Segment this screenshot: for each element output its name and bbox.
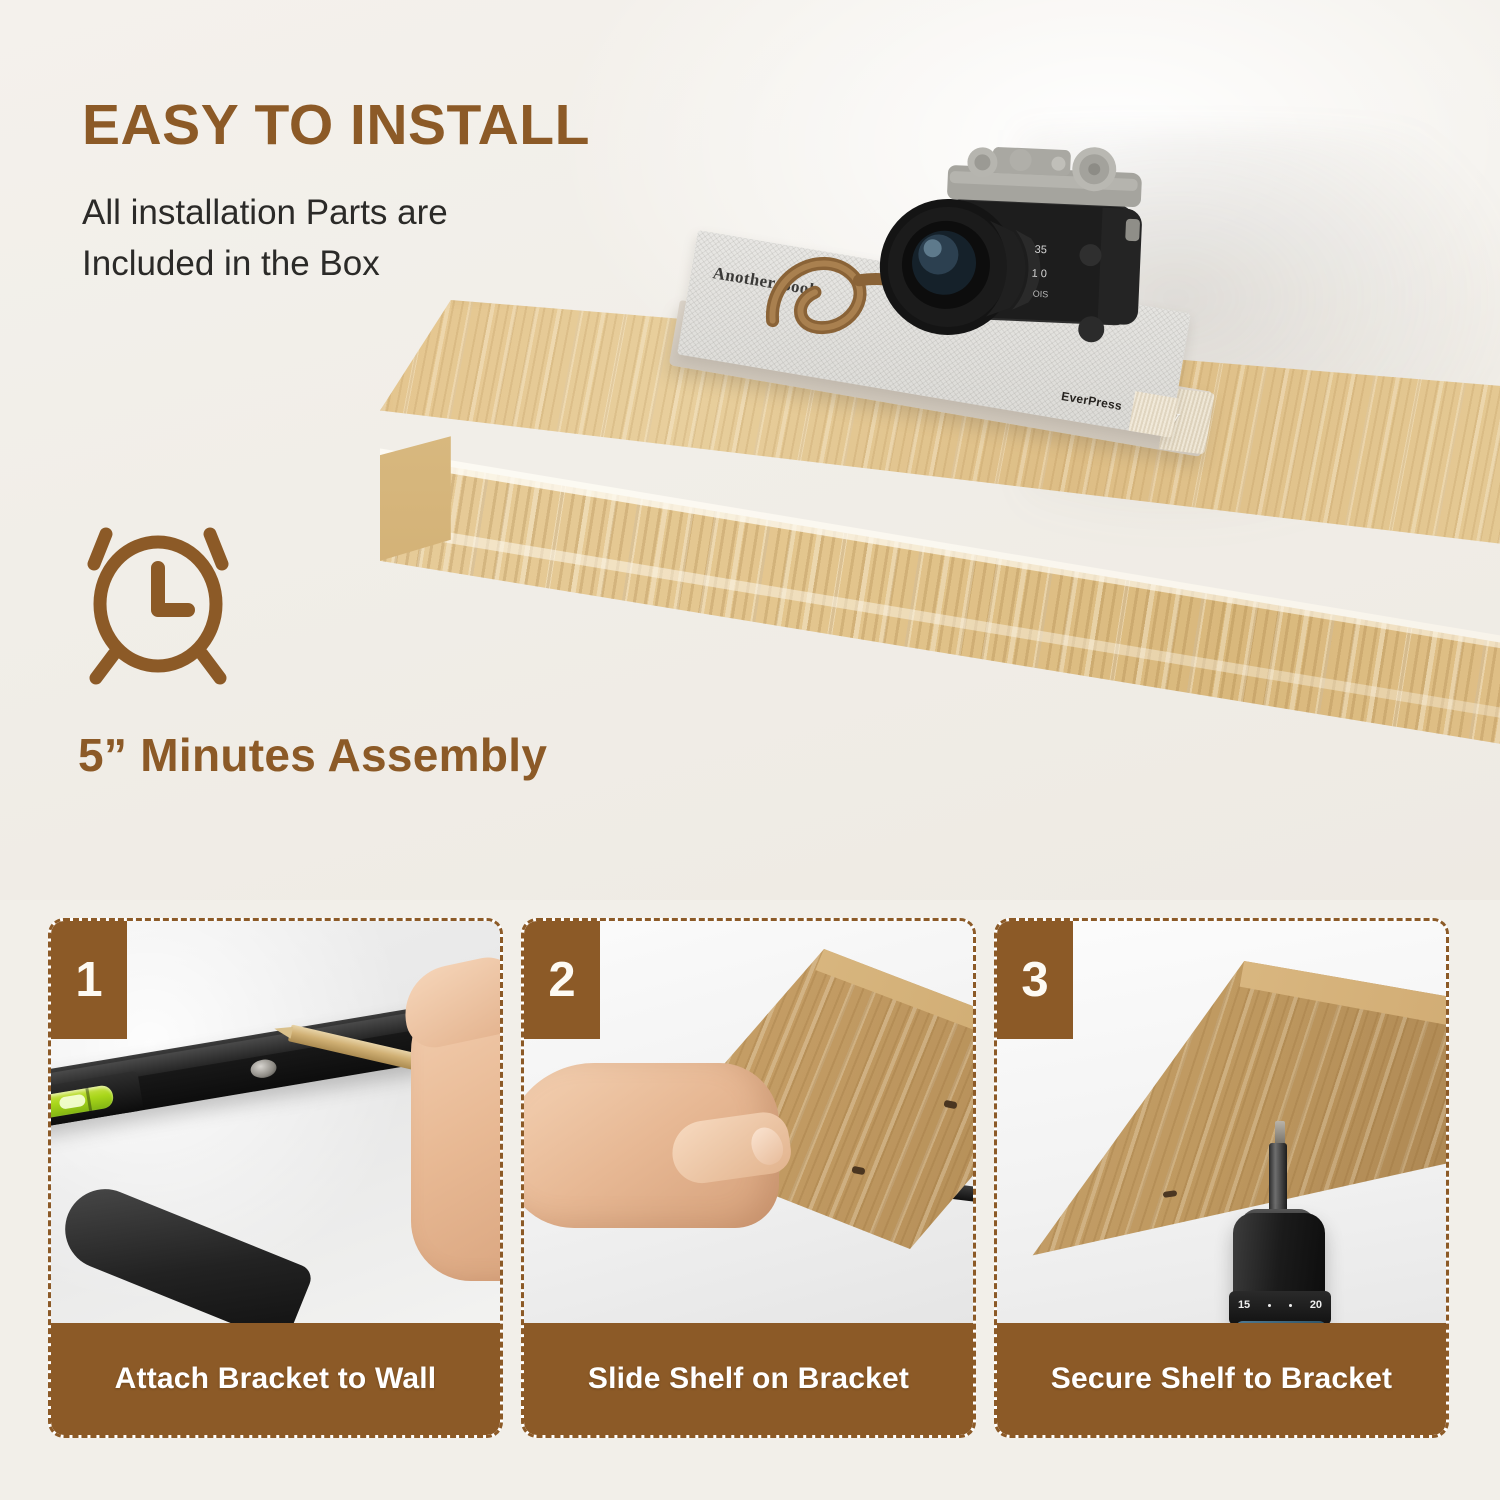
hero-section: WORLD BALLET Yan Ballet Academy Another …	[0, 0, 1500, 900]
svg-text:1 0: 1 0	[1031, 268, 1047, 281]
step-panel-2[interactable]: 2 Slide Shelf on Bracket	[521, 918, 976, 1438]
torque-mark-15: 15	[1238, 1299, 1250, 1311]
step-number-badge-3: 3	[997, 921, 1073, 1039]
step-caption-bar-3: Secure Shelf to Bracket	[997, 1323, 1446, 1435]
step-panel-3[interactable]: 15 20 3 Secure Shelf to Bracket	[994, 918, 1449, 1438]
svg-text:OIS: OIS	[1033, 289, 1049, 300]
level-bubble	[59, 1094, 87, 1110]
step-caption-2: Slide Shelf on Bracket	[588, 1362, 909, 1396]
page-title: EASY TO INSTALL	[82, 96, 742, 156]
drill-torque-marks: 15 20	[1229, 1299, 1331, 1311]
mirrorless-camera: 35 1 0 OIS	[832, 122, 1203, 407]
vial-mark-right	[85, 1088, 92, 1111]
step-number-badge-2: 2	[524, 921, 600, 1039]
step-caption-bar-2: Slide Shelf on Bracket	[524, 1323, 973, 1435]
torque-dot-1	[1268, 1304, 1271, 1307]
step-caption-3: Secure Shelf to Bracket	[1051, 1362, 1392, 1396]
drill-bit	[1269, 1143, 1287, 1219]
step-caption-bar-1: Attach Bracket to Wall	[51, 1323, 500, 1435]
bracket-screw-hole	[249, 1058, 278, 1080]
hero-subtitle: All installation Parts are Included in t…	[82, 188, 642, 290]
torque-mark-20: 20	[1310, 1299, 1322, 1311]
hero-subtitle-line-2: Included in the Box	[82, 244, 380, 283]
infographic-page: WORLD BALLET Yan Ballet Academy Another …	[0, 0, 1500, 1500]
hero-subtitle-line-1: All installation Parts are	[82, 193, 448, 232]
alarm-clock-icon	[82, 512, 252, 692]
step-number-badge-1: 1	[51, 921, 127, 1039]
step-panel-1[interactable]: 1 Attach Bracket to Wall	[48, 918, 503, 1438]
assembly-time-label: 5” Minutes Assembly	[78, 728, 547, 782]
svg-text:35: 35	[1034, 244, 1047, 257]
step-caption-1: Attach Bracket to Wall	[115, 1362, 437, 1396]
torque-dot-2	[1289, 1304, 1292, 1307]
hero-copy: EASY TO INSTALL All installation Parts a…	[82, 96, 742, 289]
installation-steps: 1 Attach Bracket to Wall 2	[0, 900, 1500, 1500]
